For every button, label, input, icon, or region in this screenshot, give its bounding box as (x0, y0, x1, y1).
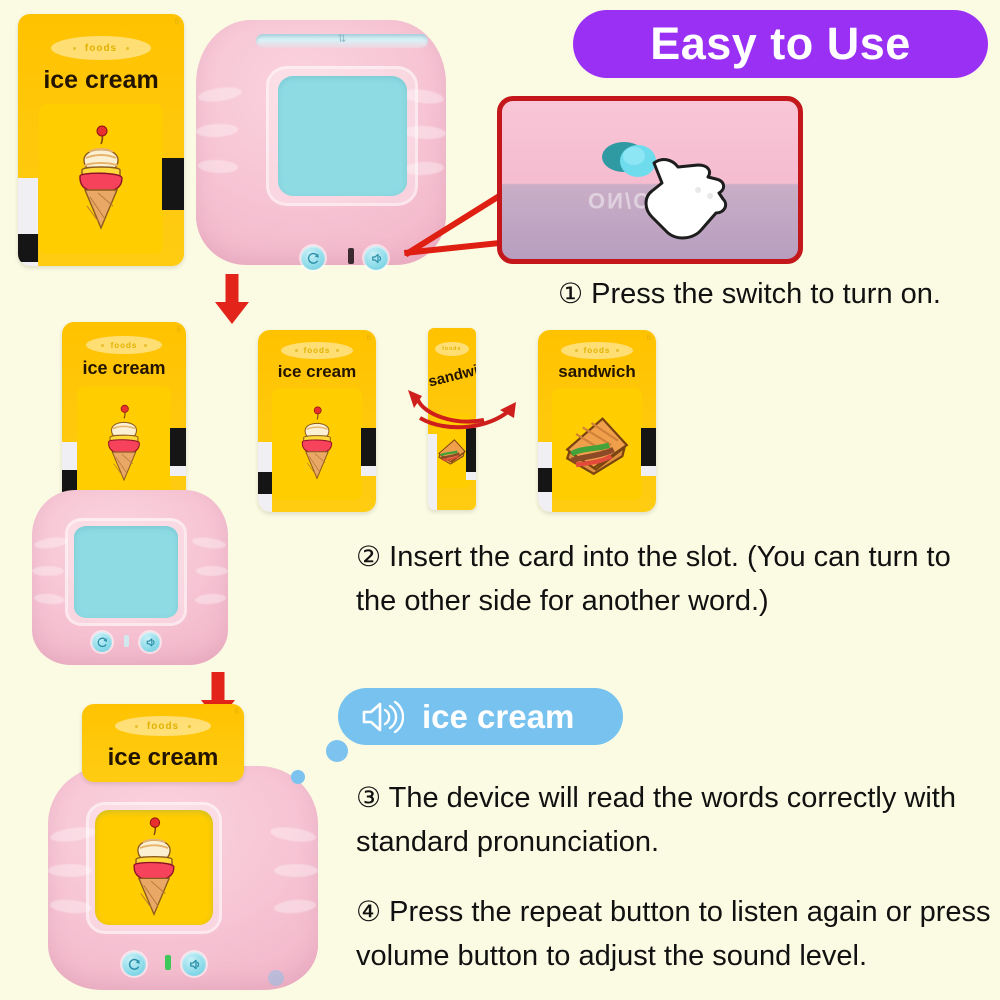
pronunciation-bubble: ice cream (338, 688, 623, 745)
card-category-label: foods (442, 346, 461, 351)
status-led (348, 248, 354, 264)
speaker-icon (360, 699, 404, 735)
card-word: sandwich (538, 362, 656, 382)
device-rib (196, 566, 228, 576)
repeat-button[interactable] (92, 632, 112, 652)
oval-dot-right (126, 47, 129, 50)
card-picture-ice-cream (272, 388, 362, 500)
card-category-label: foods (85, 43, 117, 54)
status-led (165, 955, 171, 970)
device-middle (32, 490, 228, 665)
step-3-text: ③ The device will read the words correct… (356, 776, 981, 864)
card-category-label: foods (584, 346, 611, 355)
card-mark (641, 428, 656, 466)
repeat-icon (96, 636, 109, 649)
volume-button[interactable] (140, 632, 160, 652)
card-category-oval: foods (115, 716, 211, 736)
card-picture-sandwich (552, 388, 642, 500)
card-category-label: foods (111, 341, 138, 350)
oval-dot-right (336, 349, 339, 352)
card-slot-icon: ⇅ (337, 32, 346, 45)
card-mark (170, 428, 186, 466)
card-strip-left (538, 442, 552, 512)
card-corner-mark: 6 (175, 17, 179, 26)
step-1-label: Press the switch to turn on. (591, 278, 941, 310)
step-4-text: ④ Press the repeat button to listen agai… (356, 890, 996, 978)
card-mark (18, 234, 38, 262)
step-1-text: ① Press the switch to turn on. (558, 272, 988, 316)
arrow-step1-to-step2 (212, 274, 252, 324)
oval-dot-left (73, 47, 76, 50)
card-category-oval: foods (435, 342, 469, 356)
card-category-oval: foods (86, 336, 162, 354)
device-screen (74, 526, 178, 618)
device-rib (274, 864, 318, 877)
device-screen (95, 810, 213, 925)
step-2-number: ② (356, 541, 381, 572)
repeat-button[interactable] (301, 246, 325, 270)
card-strip-left (428, 434, 437, 510)
card-category-oval: foods (281, 342, 353, 359)
card-corner-mark: 6 (177, 325, 181, 334)
repeat-icon (127, 957, 142, 972)
ice-cream-cone-icon (296, 404, 338, 484)
sandwich-icon (558, 412, 636, 476)
card-mark (538, 468, 552, 492)
arrow-head (215, 302, 249, 324)
banner-easy-to-use: Easy to Use (573, 10, 988, 78)
oval-dot-left (101, 344, 104, 347)
ice-cream-cone-icon (102, 402, 146, 486)
volume-button[interactable] (182, 952, 206, 976)
oval-dot-left (575, 349, 578, 352)
card-row-sandwich: 6 foods sandwich (538, 330, 656, 512)
device-rib (32, 566, 64, 576)
card-row-ice-cream: 6 foods ice cream (258, 330, 376, 512)
ice-cream-cone-icon (122, 816, 186, 920)
volume-icon (187, 957, 202, 972)
callout-art (502, 101, 788, 249)
repeat-icon (306, 251, 321, 266)
card-mark (62, 470, 77, 492)
rotate-arrow-icon (398, 376, 538, 436)
device-top: ⇅ (196, 20, 446, 265)
card-in-bottom-device: 6 foods ice cream (82, 704, 244, 782)
card-mark (258, 472, 272, 494)
step-1-number: ① (558, 278, 583, 309)
step-3-number: ③ (356, 782, 381, 813)
step-2-text: ② Insert the card into the slot. (You ca… (356, 535, 981, 623)
sandwich-icon (435, 430, 469, 472)
card-word: ice cream (258, 362, 376, 382)
card-word: ice cream (82, 744, 244, 772)
card-strip-right (361, 428, 376, 476)
card-ice-cream-top: 6 foods ice cream (18, 14, 184, 266)
step-2-line1: Insert the card into the slot. (You can … (389, 541, 918, 573)
card-corner-mark: 6 (647, 333, 651, 342)
device-bottom (48, 766, 318, 990)
card-word: ice cream (18, 66, 184, 95)
step-3-line1: The device will read the words correctly (389, 782, 897, 814)
card-category-oval: foods (51, 36, 151, 60)
card-mark (162, 158, 184, 210)
oval-dot-right (188, 725, 191, 728)
volume-button[interactable] (364, 246, 388, 270)
instruction-graphic: Easy to Use 6 foods ice cream (0, 0, 1000, 1000)
card-category-label: foods (147, 721, 179, 732)
card-category-label: foods (304, 346, 331, 355)
card-word: ice cream (62, 358, 186, 379)
banner-label: Easy to Use (650, 18, 911, 70)
ice-cream-cone-icon (71, 124, 131, 234)
step-4-line1: Press the repeat button to listen again … (389, 896, 911, 928)
volume-icon (144, 636, 157, 649)
card-picture-ice-cream (77, 386, 171, 502)
status-led (124, 635, 129, 647)
card-category-oval: foods (561, 342, 633, 359)
card-inserted-ice-cream: 6 foods ice cream (62, 322, 186, 514)
volume-icon (369, 251, 384, 266)
repeat-button[interactable] (122, 952, 146, 976)
card-corner-mark: 6 (367, 333, 371, 342)
device-screen (278, 76, 407, 196)
oval-dot-left (295, 349, 298, 352)
pointing-hand-icon (646, 160, 726, 238)
card-strip-left (18, 178, 38, 266)
card-strip-right (170, 428, 186, 476)
device-card-slot[interactable]: ⇅ (256, 34, 428, 48)
oval-dot-right (616, 349, 619, 352)
sound-bubble-small (291, 770, 305, 784)
oval-dot-left (135, 725, 138, 728)
card-strip-left (258, 442, 272, 512)
sound-bubble-tiny (268, 970, 284, 986)
callout-switch-closeup: ON/OFF (497, 96, 803, 264)
card-corner-mark: 6 (235, 707, 239, 716)
oval-dot-right (144, 344, 147, 347)
card-strip-right (162, 158, 184, 210)
card-strip-right (641, 428, 656, 476)
pronunciation-word: ice cream (422, 698, 574, 736)
card-mark (361, 428, 376, 466)
sound-bubble-large (326, 740, 348, 762)
card-picture-ice-cream (39, 104, 163, 254)
step-4-number: ④ (356, 896, 381, 927)
